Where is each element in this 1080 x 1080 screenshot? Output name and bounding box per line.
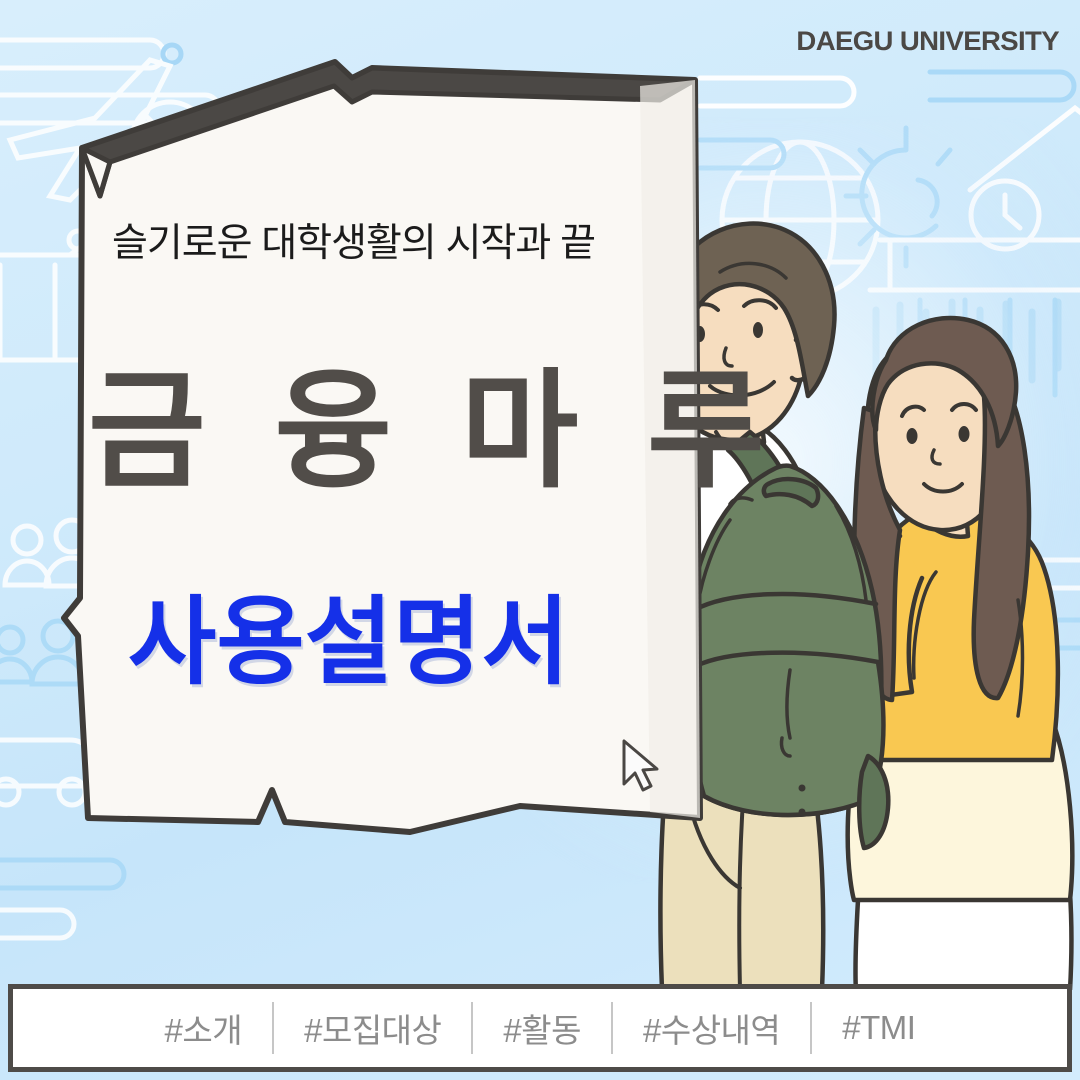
brand-wordmark: DAEGU UNIVERSITY bbox=[796, 26, 1059, 57]
tag-tmi[interactable]: #TMI bbox=[812, 1009, 945, 1047]
poster-subtitle: 슬기로운 대학생활의 시작과 끝 bbox=[112, 212, 595, 268]
poster-highlight: 사용설명서 bbox=[128, 594, 570, 690]
poster-title: 금 융 마 루 bbox=[88, 368, 777, 496]
bottom-tag-bar: #소개 #모집대상 #활동 #수상내역 #TMI bbox=[8, 984, 1072, 1072]
tag-intro[interactable]: #소개 bbox=[135, 1004, 273, 1052]
tag-recruit-target[interactable]: #모집대상 bbox=[274, 1004, 471, 1052]
tag-activity[interactable]: #활동 bbox=[473, 1004, 611, 1052]
mouse-pointer-icon bbox=[618, 738, 662, 794]
poster-canvas: 슬기로운 대학생활의 시작과 끝 금 융 마 루 사용설명서 DAEGU UNI… bbox=[0, 0, 1080, 1080]
tag-awards[interactable]: #수상내역 bbox=[613, 1004, 810, 1052]
